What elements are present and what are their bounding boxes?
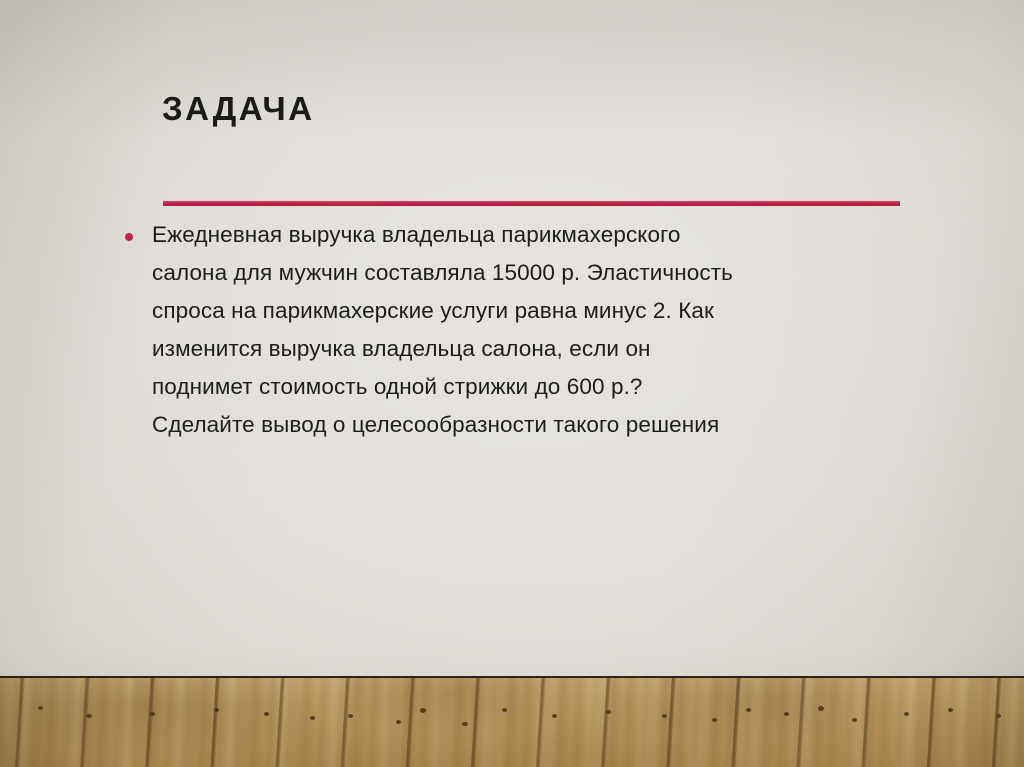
wood-knot bbox=[746, 708, 751, 712]
wooden-floor bbox=[0, 676, 1024, 767]
wood-knot bbox=[214, 708, 219, 712]
wood-knot bbox=[552, 714, 557, 718]
list-item: Ежедневная выручка владельца парикмахерс… bbox=[122, 216, 902, 444]
wood-knot bbox=[662, 714, 667, 718]
wood-knot bbox=[38, 706, 43, 710]
wood-knot bbox=[86, 714, 92, 718]
bullet-line: спроса на парикмахерские услуги равна ми… bbox=[152, 292, 902, 330]
wood-knot bbox=[310, 716, 315, 720]
floor-color-variation bbox=[0, 678, 1024, 767]
presentation-slide: ЗАДАЧА Ежедневная выручка владельца пари… bbox=[0, 0, 1024, 767]
wood-knot bbox=[396, 720, 401, 724]
bullet-line: Ежедневная выручка владельца парикмахерс… bbox=[152, 216, 902, 254]
wood-knot bbox=[502, 708, 507, 712]
wood-knot bbox=[996, 714, 1001, 718]
wood-knot bbox=[462, 722, 468, 726]
bullet-line: поднимет стоимость одной стрижки до 600 … bbox=[152, 368, 902, 406]
wood-knot bbox=[150, 712, 155, 716]
wood-knot bbox=[818, 706, 824, 711]
wood-knot bbox=[948, 708, 953, 712]
title-underline-rule bbox=[163, 201, 900, 206]
wood-knot bbox=[606, 710, 611, 714]
wall-top-shading bbox=[0, 0, 1024, 140]
wood-knot bbox=[852, 718, 857, 722]
bullet-line: Сделайте вывод о целесообразности такого… bbox=[152, 406, 902, 444]
wood-knot bbox=[420, 708, 426, 713]
wood-knot bbox=[904, 712, 909, 716]
wood-knot bbox=[264, 712, 269, 716]
bullet-line: салона для мужчин составляла 15000 р. Эл… bbox=[152, 254, 902, 292]
wood-knot bbox=[348, 714, 353, 718]
slide-body: Ежедневная выручка владельца парикмахерс… bbox=[122, 216, 902, 444]
slide-title: ЗАДАЧА bbox=[162, 90, 315, 128]
bullet-dot-icon bbox=[125, 233, 133, 241]
bullet-line: изменится выручка владельца салона, если… bbox=[152, 330, 902, 368]
wood-knot bbox=[712, 718, 717, 722]
bullet-text: Ежедневная выручка владельца парикмахерс… bbox=[152, 216, 902, 444]
wood-knot bbox=[784, 712, 789, 716]
